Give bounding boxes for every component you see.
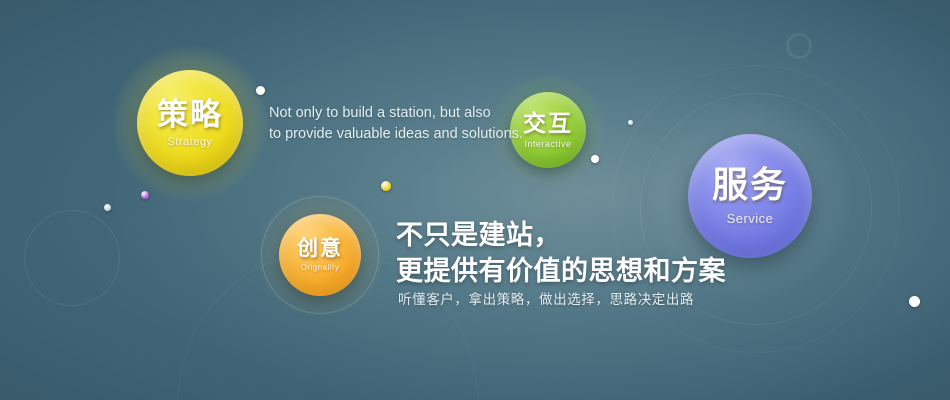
dot-purple-1 — [141, 191, 149, 199]
sphere-interactive-label-en: Interactive — [524, 140, 571, 149]
sphere-originality[interactable]: 创意 Orignality — [279, 214, 361, 296]
main-headline: 不只是建站， 更提供有价值的思想和方案 — [396, 218, 726, 290]
sphere-strategy[interactable]: 策略 Strategy — [137, 70, 243, 176]
sphere-service-label-en: Service — [727, 212, 774, 225]
dot-white-4 — [909, 296, 920, 307]
sphere-originality-label-en: Orignality — [301, 264, 340, 272]
dot-yellow-1 — [381, 181, 391, 191]
english-tagline: Not only to build a station, but also to… — [269, 103, 523, 145]
ring-left-decoration — [24, 210, 120, 306]
sphere-interactive-label-cn: 交互 — [523, 112, 573, 135]
sub-headline: 听懂客户，拿出策略，做出选择，思路决定出路 — [398, 288, 694, 308]
sphere-strategy-label-en: Strategy — [168, 137, 213, 148]
dot-white-2 — [591, 155, 599, 163]
dot-white-3 — [104, 204, 111, 211]
dot-white-5 — [628, 120, 633, 125]
sphere-service-label-cn: 服务 — [712, 167, 788, 203]
hero-banner: 策略 Strategy 交互 Interactive 创意 Orignality… — [0, 0, 950, 400]
sphere-originality-label-cn: 创意 — [297, 238, 343, 259]
sphere-strategy-label-cn: 策略 — [157, 99, 223, 130]
dot-white-1 — [256, 86, 265, 95]
ring-top-right-decoration — [786, 33, 812, 59]
